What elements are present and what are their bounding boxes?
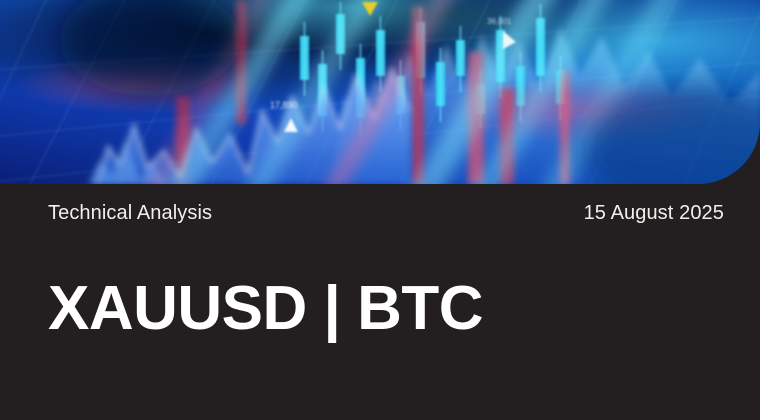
meta-row: Technical Analysis 15 August 2025 [48, 202, 724, 228]
kicker-label: Technical Analysis [48, 202, 212, 225]
technical-analysis-card: 17,890 36,001 Technical Analysis 15 Augu… [0, 0, 760, 420]
hero-chart-image: 17,890 36,001 [0, 0, 760, 184]
hero-chart-svg: 17,890 36,001 [0, 0, 760, 184]
price-label-36001-text: 36,001 [487, 17, 512, 26]
page-title: XAUUSD | BTC [48, 278, 483, 340]
content-panel: Technical Analysis 15 August 2025 XAUUSD… [0, 184, 760, 420]
date-label: 15 August 2025 [584, 202, 724, 225]
price-label-17890-text: 17,890 [270, 100, 298, 110]
